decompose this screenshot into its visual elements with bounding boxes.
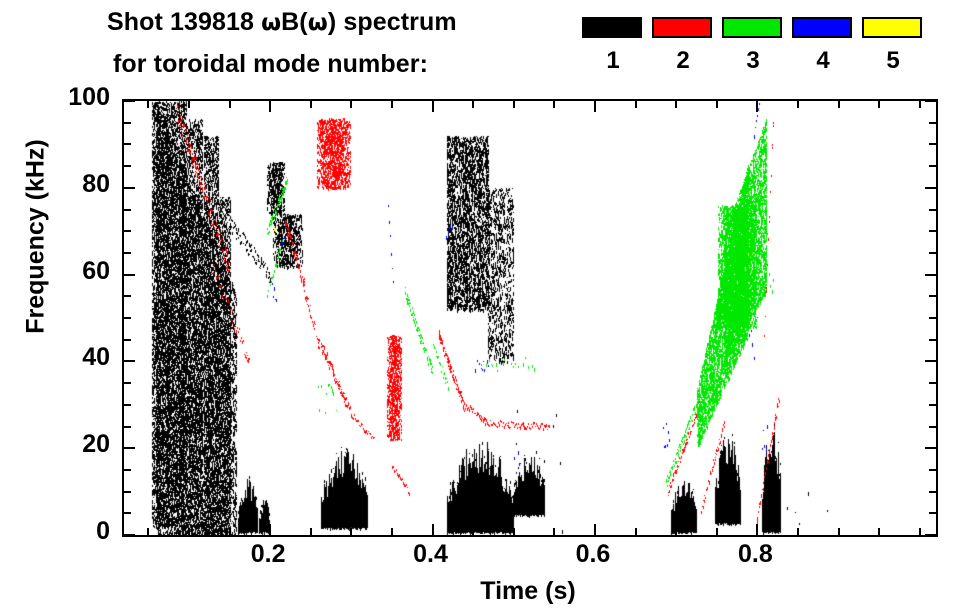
x-tick-label-0.8: 0.8 bbox=[715, 540, 795, 569]
spectrogram-figure: Shot 139818 ωB(ω) spectrum for toroidal … bbox=[0, 0, 963, 615]
x-tick-top-0.90 bbox=[838, 101, 840, 108]
x-tick-0.45 bbox=[472, 528, 474, 535]
legend-label-1: 1 bbox=[582, 48, 644, 74]
y-tick-right-60 bbox=[925, 274, 936, 276]
x-tick-top-0.30 bbox=[350, 101, 352, 108]
title-text-mid: B( bbox=[281, 8, 308, 36]
x-tick-0.15 bbox=[229, 528, 231, 535]
x-tick-top-0.80 bbox=[756, 101, 758, 112]
legend-swatch-5 bbox=[862, 17, 922, 38]
legend-label-2: 2 bbox=[652, 48, 714, 74]
y-tick-right-35 bbox=[929, 382, 936, 384]
x-tick-0.10 bbox=[188, 528, 190, 535]
y-tick-15 bbox=[124, 469, 131, 471]
y-tick-label-100: 100 bbox=[68, 83, 110, 112]
y-tick-right-0 bbox=[925, 534, 936, 536]
x-tick-top-0.45 bbox=[472, 101, 474, 108]
x-tick-0.55 bbox=[553, 528, 555, 535]
x-tick-top-1.00 bbox=[919, 101, 921, 108]
x-tick-0.20 bbox=[269, 524, 271, 535]
y-tick-100 bbox=[124, 100, 135, 102]
spectrogram-canvas[interactable] bbox=[124, 101, 936, 535]
x-tick-top-0.70 bbox=[675, 101, 677, 108]
x-tick-0.05 bbox=[147, 528, 149, 535]
legend-item-4[interactable]: 4 bbox=[792, 17, 854, 74]
legend-label-3: 3 bbox=[722, 48, 784, 74]
y-tick-85 bbox=[124, 165, 131, 167]
y-tick-right-55 bbox=[929, 295, 936, 297]
y-tick-right-20 bbox=[925, 447, 936, 449]
legend-label-4: 4 bbox=[792, 48, 854, 74]
x-tick-0.60 bbox=[594, 524, 596, 535]
y-tick-right-70 bbox=[929, 230, 936, 232]
x-tick-0.65 bbox=[635, 528, 637, 535]
y-tick-40 bbox=[124, 360, 135, 362]
x-tick-0.40 bbox=[432, 524, 434, 535]
x-tick-0.50 bbox=[513, 528, 515, 535]
y-tick-label-40: 40 bbox=[82, 343, 110, 372]
plot-area[interactable] bbox=[122, 99, 938, 537]
y-tick-80 bbox=[124, 187, 135, 189]
x-tick-label-0.6: 0.6 bbox=[553, 540, 633, 569]
y-tick-25 bbox=[124, 426, 131, 428]
legend-item-3[interactable]: 3 bbox=[722, 17, 784, 74]
legend-swatch-1 bbox=[582, 17, 642, 38]
page-subtitle: for toroidal mode number: bbox=[113, 50, 428, 79]
x-tick-0.30 bbox=[350, 528, 352, 535]
legend-item-1[interactable]: 1 bbox=[582, 17, 644, 74]
y-tick-right-65 bbox=[929, 252, 936, 254]
x-tick-0.75 bbox=[716, 528, 718, 535]
x-tick-0.95 bbox=[878, 528, 880, 535]
y-tick-70 bbox=[124, 230, 131, 232]
x-tick-0.80 bbox=[756, 524, 758, 535]
x-tick-top-0.65 bbox=[635, 101, 637, 108]
x-tick-top-0.15 bbox=[229, 101, 231, 108]
x-tick-0.25 bbox=[310, 528, 312, 535]
y-tick-label-0: 0 bbox=[96, 517, 110, 546]
x-axis-title: Time (s) bbox=[122, 577, 934, 606]
x-tick-top-0.75 bbox=[716, 101, 718, 108]
x-tick-0.70 bbox=[675, 528, 677, 535]
y-tick-20 bbox=[124, 447, 135, 449]
y-tick-right-95 bbox=[929, 122, 936, 124]
legend: 12345 bbox=[582, 17, 942, 87]
x-tick-top-0.40 bbox=[432, 101, 434, 112]
y-tick-label-20: 20 bbox=[82, 430, 110, 459]
x-tick-top-0.60 bbox=[594, 101, 596, 112]
y-tick-right-90 bbox=[929, 143, 936, 145]
y-tick-50 bbox=[124, 317, 131, 319]
y-tick-right-15 bbox=[929, 469, 936, 471]
legend-item-2[interactable]: 2 bbox=[652, 17, 714, 74]
x-tick-top-0.05 bbox=[147, 101, 149, 108]
omega-symbol-1: ω bbox=[261, 10, 281, 36]
y-tick-right-5 bbox=[929, 512, 936, 514]
title-text-pre: Shot 139818 bbox=[107, 8, 261, 36]
omega-symbol-2: ω bbox=[308, 10, 328, 36]
y-tick-right-85 bbox=[929, 165, 936, 167]
y-tick-95 bbox=[124, 122, 131, 124]
x-tick-label-0.4: 0.4 bbox=[391, 540, 471, 569]
x-tick-1.00 bbox=[919, 528, 921, 535]
y-tick-right-75 bbox=[929, 209, 936, 211]
y-tick-right-40 bbox=[925, 360, 936, 362]
x-tick-0.85 bbox=[797, 528, 799, 535]
page-title: Shot 139818 ωB(ω) spectrum bbox=[107, 8, 457, 37]
y-tick-right-25 bbox=[929, 426, 936, 428]
y-tick-10 bbox=[124, 491, 131, 493]
legend-label-5: 5 bbox=[862, 48, 924, 74]
y-axis-title: Frequency (kHz) bbox=[22, 117, 51, 357]
y-tick-30 bbox=[124, 404, 131, 406]
y-tick-right-45 bbox=[929, 339, 936, 341]
x-tick-0.35 bbox=[391, 528, 393, 535]
y-tick-right-100 bbox=[925, 100, 936, 102]
x-tick-0.90 bbox=[838, 528, 840, 535]
y-tick-5 bbox=[124, 512, 131, 514]
title-text-post: ) spectrum bbox=[328, 8, 457, 36]
x-tick-top-0.95 bbox=[878, 101, 880, 108]
y-tick-65 bbox=[124, 252, 131, 254]
x-axis-tick-labels: 0.20.40.60.8 bbox=[122, 540, 934, 574]
x-tick-top-0.50 bbox=[513, 101, 515, 108]
x-tick-label-0.2: 0.2 bbox=[228, 540, 308, 569]
y-tick-60 bbox=[124, 274, 135, 276]
legend-swatch-4 bbox=[792, 17, 852, 38]
y-tick-90 bbox=[124, 143, 131, 145]
y-tick-right-50 bbox=[929, 317, 936, 319]
legend-swatch-2 bbox=[652, 17, 712, 38]
y-tick-right-80 bbox=[925, 187, 936, 189]
legend-item-5[interactable]: 5 bbox=[862, 17, 924, 74]
y-tick-right-30 bbox=[929, 404, 936, 406]
x-tick-top-0.10 bbox=[188, 101, 190, 108]
y-tick-label-60: 60 bbox=[82, 257, 110, 286]
y-tick-label-80: 80 bbox=[82, 170, 110, 199]
x-tick-top-0.20 bbox=[269, 101, 271, 112]
x-tick-top-0.85 bbox=[797, 101, 799, 108]
x-tick-top-0.55 bbox=[553, 101, 555, 108]
y-tick-55 bbox=[124, 295, 131, 297]
y-tick-75 bbox=[124, 209, 131, 211]
x-tick-top-0.35 bbox=[391, 101, 393, 108]
y-tick-0 bbox=[124, 534, 135, 536]
x-tick-top-0.25 bbox=[310, 101, 312, 108]
y-tick-35 bbox=[124, 382, 131, 384]
legend-swatch-3 bbox=[722, 17, 782, 38]
y-tick-right-10 bbox=[929, 491, 936, 493]
y-tick-45 bbox=[124, 339, 131, 341]
